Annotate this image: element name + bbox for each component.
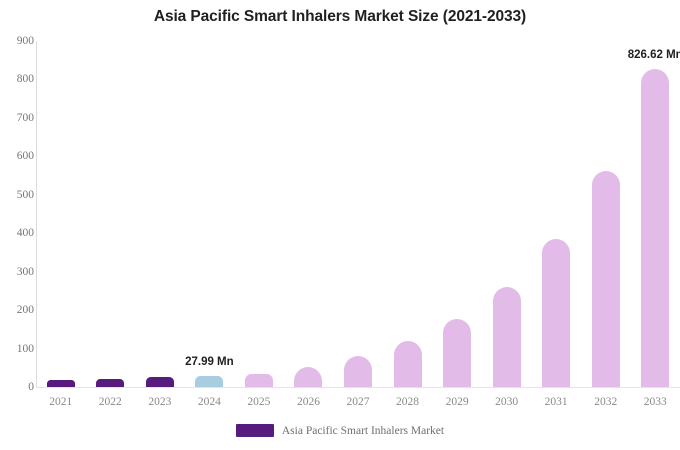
bar-2024[interactable] (195, 376, 223, 387)
x-axis-tick-2023: 2023 (135, 396, 185, 408)
legend-label-asia-pacific-smart-inhalers-market: Asia Pacific Smart Inhalers Market (282, 425, 444, 437)
y-axis-tick-700: 700 (0, 112, 34, 124)
chart-legend: Asia Pacific Smart Inhalers Market (0, 424, 680, 437)
chart-title: Asia Pacific Smart Inhalers Market Size … (0, 8, 680, 26)
x-axis-tick-2027: 2027 (333, 396, 383, 408)
bar-2032[interactable] (592, 171, 620, 387)
x-axis-tick-2032: 2032 (581, 396, 631, 408)
bar-value-label-2033: 826.62 Mn (595, 49, 680, 61)
x-axis-tick-2029: 2029 (432, 396, 482, 408)
bar-2033[interactable] (641, 69, 669, 387)
bar-2030[interactable] (493, 287, 521, 387)
x-axis-tick-2026: 2026 (283, 396, 333, 408)
y-axis-tick-800: 800 (0, 73, 34, 85)
x-axis-line (36, 387, 680, 388)
x-axis-tick-2028: 2028 (383, 396, 433, 408)
y-axis-tick-600: 600 (0, 150, 34, 162)
bar-2023[interactable] (146, 377, 174, 387)
plot-area (36, 41, 680, 387)
y-axis-tick-100: 100 (0, 343, 34, 355)
bar-chart: Asia Pacific Smart Inhalers Market Size … (0, 0, 680, 450)
y-axis-tick-300: 300 (0, 266, 34, 278)
bar-2028[interactable] (394, 341, 422, 387)
bar-2025[interactable] (245, 374, 273, 387)
x-axis-tick-2030: 2030 (482, 396, 532, 408)
y-axis-tick-0: 0 (0, 381, 34, 393)
x-axis-tick-2033: 2033 (630, 396, 680, 408)
bar-2029[interactable] (443, 319, 471, 387)
bar-2027[interactable] (344, 356, 372, 387)
y-axis-tick-400: 400 (0, 227, 34, 239)
legend-swatch-asia-pacific-smart-inhalers-market (236, 424, 274, 437)
y-axis-tick-900: 900 (0, 35, 34, 47)
x-axis-tick-2031: 2031 (531, 396, 581, 408)
x-axis-tick-2022: 2022 (85, 396, 135, 408)
bar-2026[interactable] (294, 367, 322, 387)
bar-2031[interactable] (542, 239, 570, 387)
x-axis-tick-2021: 2021 (36, 396, 86, 408)
y-axis-tick-200: 200 (0, 304, 34, 316)
bar-value-label-2024: 27.99 Mn (149, 356, 269, 368)
x-axis-tick-2024: 2024 (184, 396, 234, 408)
bar-2021[interactable] (47, 380, 75, 387)
x-axis-tick-2025: 2025 (234, 396, 284, 408)
bar-2022[interactable] (96, 379, 124, 387)
y-axis-tick-500: 500 (0, 189, 34, 201)
